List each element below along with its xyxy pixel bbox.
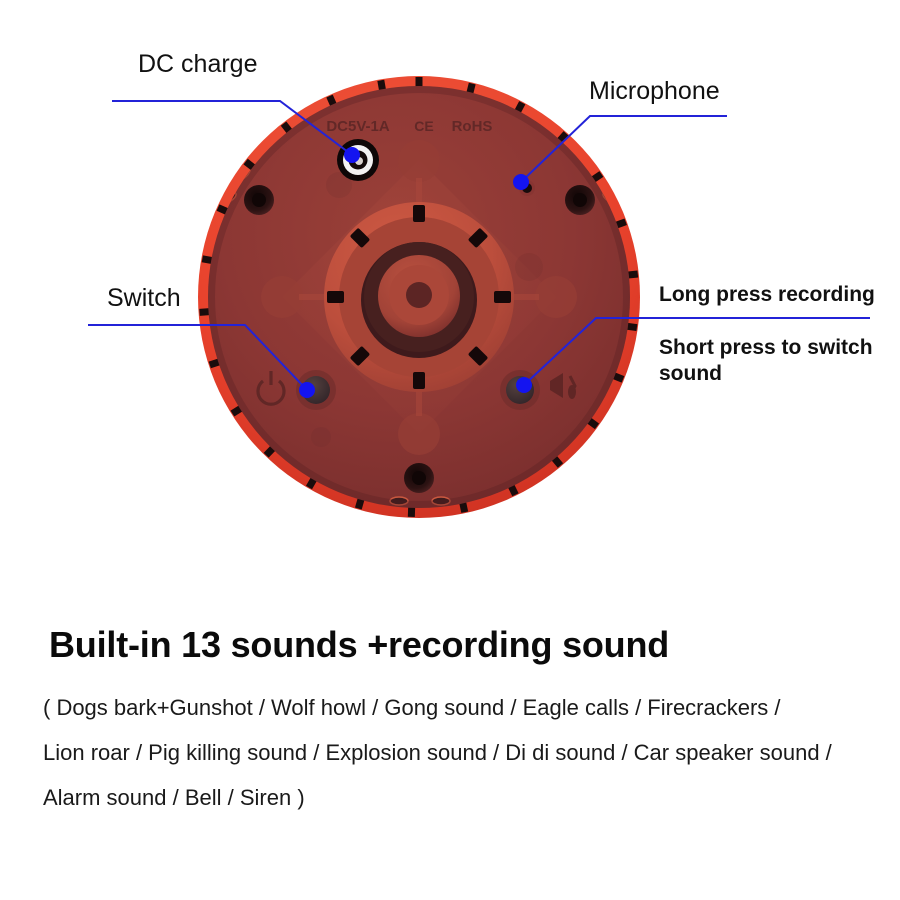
ce-marking: CE (414, 118, 433, 134)
sounds-heading: Built-in 13 sounds +recording sound (49, 624, 669, 666)
callout-label-microphone: Microphone (589, 76, 720, 107)
plate-boss-top (398, 140, 440, 182)
callout-label-dc-charge: DC charge (138, 49, 258, 80)
anchor-dot-dc-charge (344, 147, 360, 163)
plate-boss-right (535, 276, 577, 318)
screw-hole-top-left-core (252, 193, 266, 207)
sounds-list-line-2: Lion roar / Pig killing sound / Explosio… (43, 740, 832, 766)
callout-label-switch: Switch (107, 283, 181, 314)
center-dome-cap (406, 282, 432, 308)
plate-boss-bottom (398, 413, 440, 455)
product-info-graphic: DC5V-1A CE RoHS DC charge Micr (0, 0, 900, 900)
anchor-dot-sound-button (516, 377, 532, 393)
callout-label-short-press-to-switch-sound: Short press to switch sound (659, 335, 873, 388)
callout-label-long-press-recording: Long press recording (659, 282, 875, 308)
anchor-dot-switch (299, 382, 315, 398)
plate-boss-left (261, 276, 303, 318)
voltage-marking: DC5V-1A (326, 118, 390, 135)
sounds-list-line-3: Alarm sound / Bell / Siren ) (43, 785, 305, 811)
sounds-list-line-1: ( Dogs bark+Gunshot / Wolf howl / Gong s… (43, 695, 781, 721)
screw-hole-top-right-core (573, 193, 587, 207)
rohs-marking: RoHS (452, 118, 493, 135)
screw-hole-bottom-core (412, 471, 426, 485)
anchor-dot-microphone (513, 174, 529, 190)
device-diagram: DC5V-1A CE RoHS DC charge Micr (0, 0, 900, 600)
